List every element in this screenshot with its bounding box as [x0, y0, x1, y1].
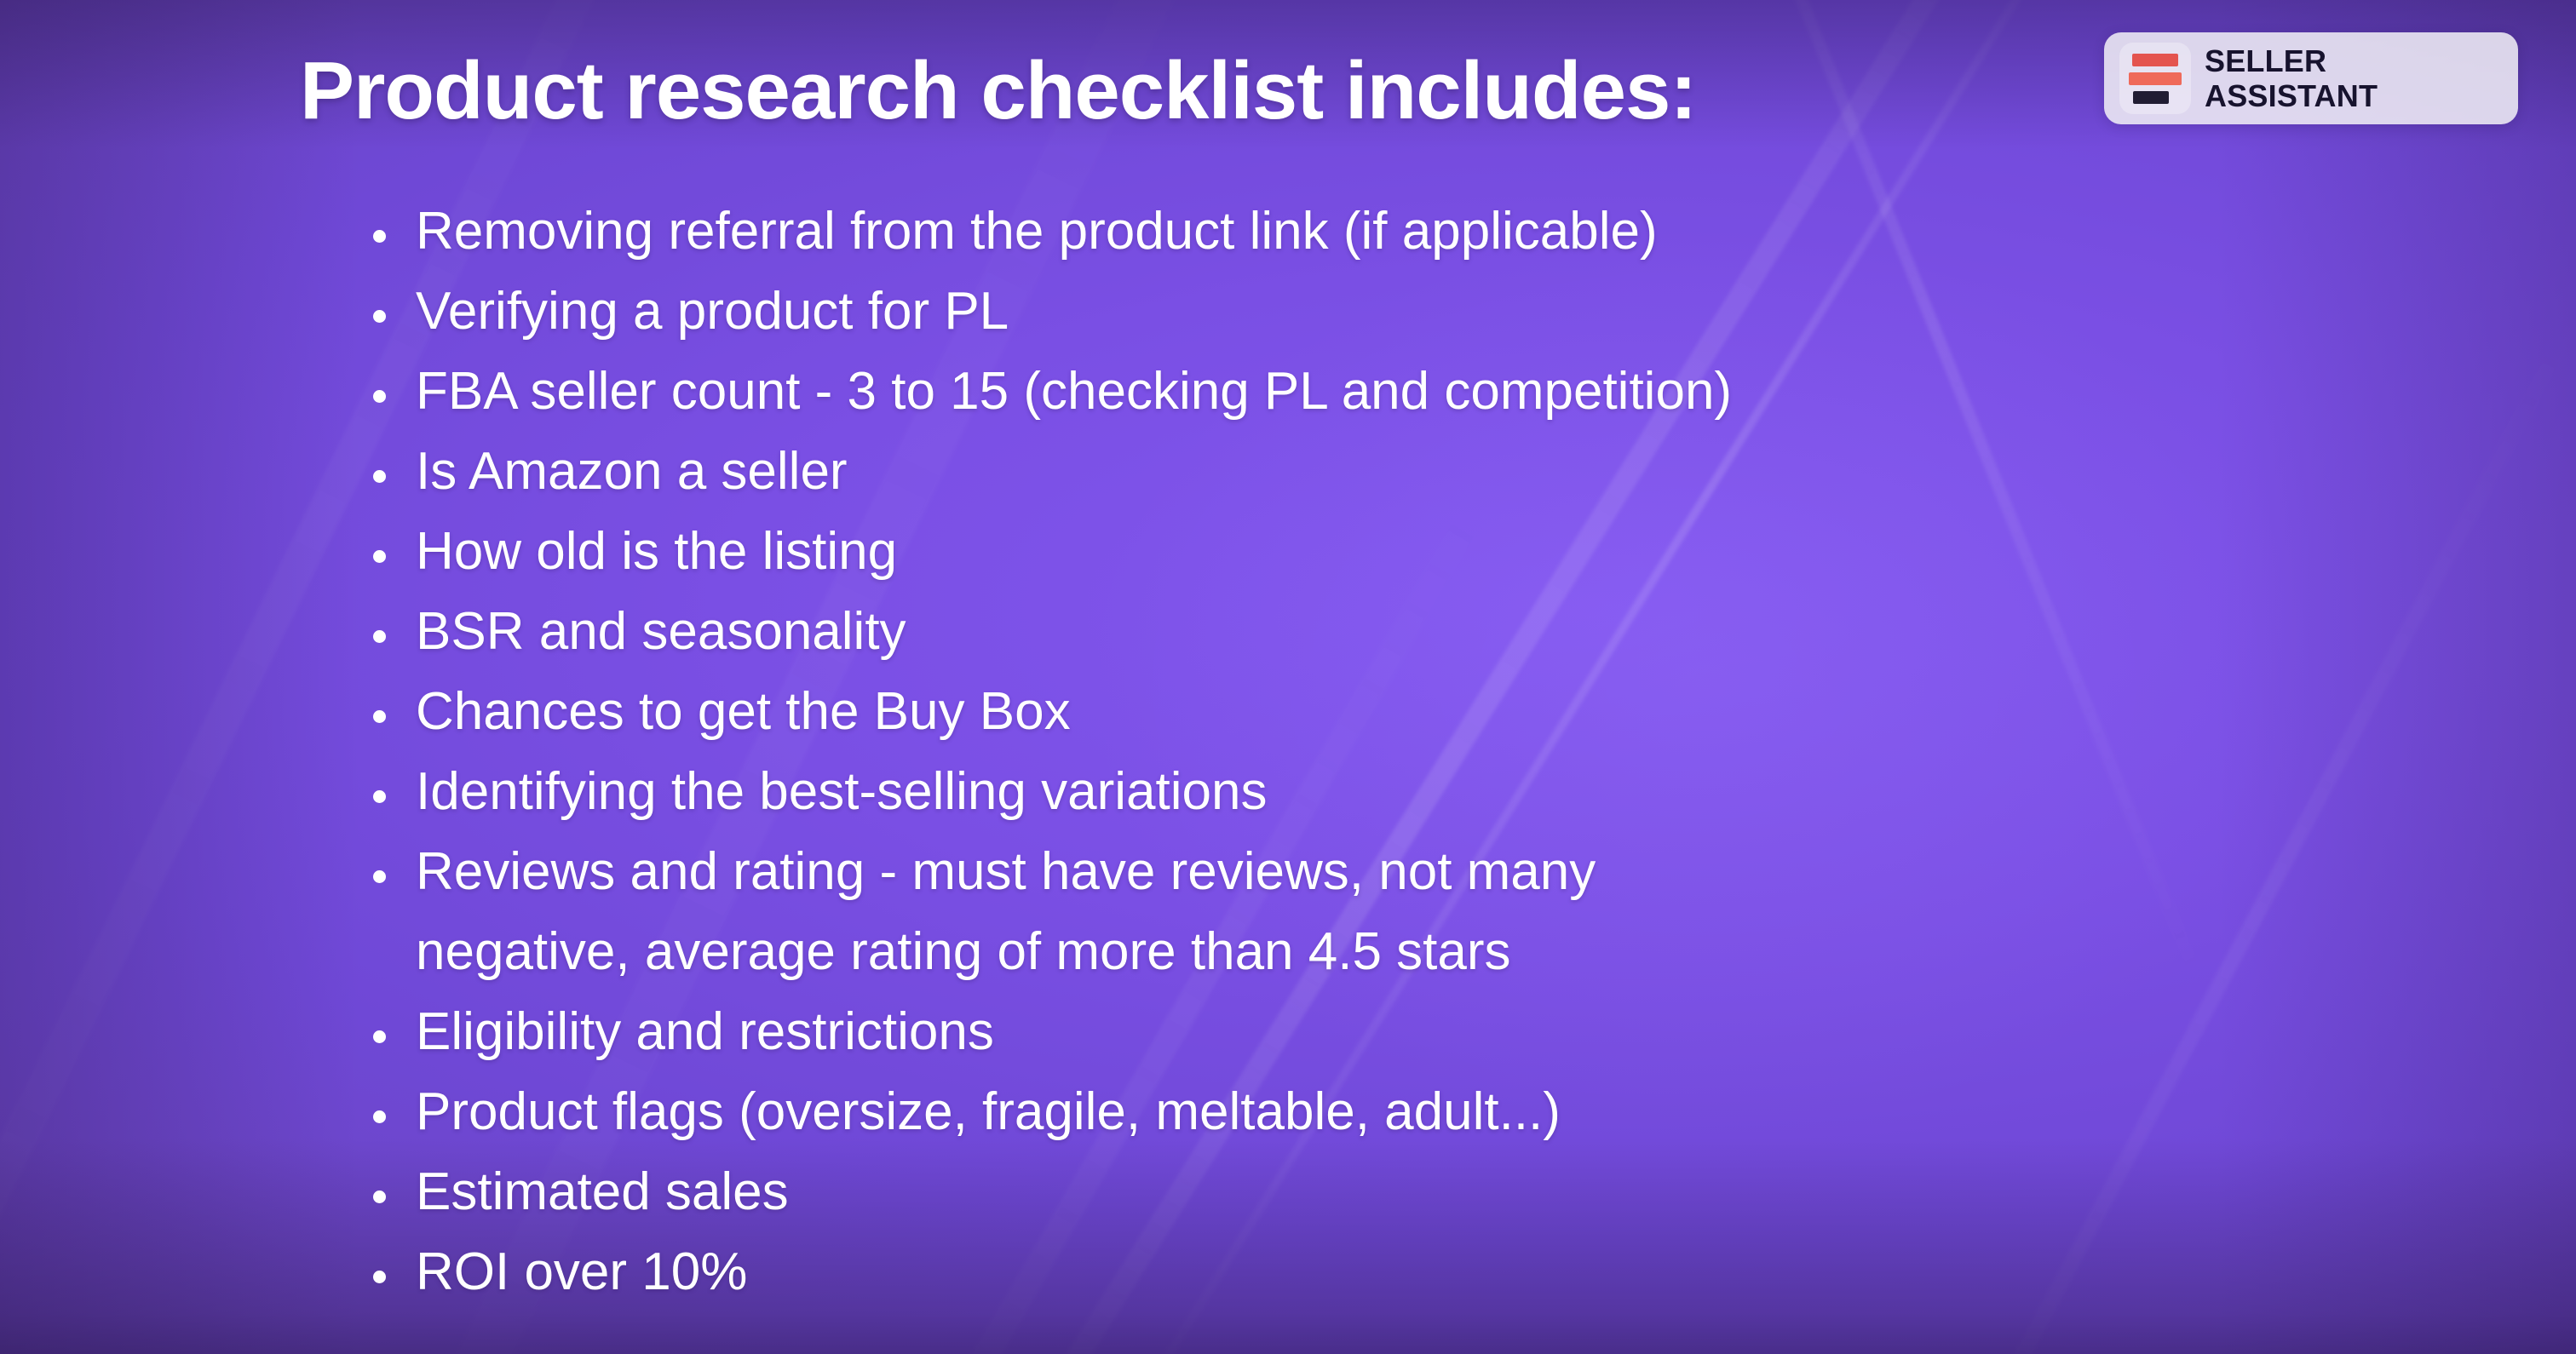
checklist-item: Identifying the best-selling variations — [366, 752, 2411, 832]
checklist-item: Estimated sales — [366, 1152, 2411, 1232]
checklist-item: Product flags (oversize, fragile, meltab… — [366, 1072, 2411, 1152]
checklist-item: Is Amazon a seller — [366, 432, 2411, 512]
logo-bar-bottom — [2133, 91, 2169, 104]
checklist-item: FBA seller count - 3 to 15 (checking PL … — [366, 352, 2411, 432]
three-bars-logo-icon — [2119, 43, 2191, 114]
slide-content: Product research checklist includes: Rem… — [0, 0, 2576, 1354]
badge-line-1: SELLER — [2205, 43, 2378, 78]
checklist-item: Removing referral from the product link … — [366, 192, 2411, 272]
slide-title: Product research checklist includes: — [300, 44, 1696, 138]
logo-bar-middle — [2129, 72, 2182, 85]
seller-assistant-badge: SELLER ASSISTANT — [2104, 32, 2518, 124]
checklist-item: ROI over 10% — [366, 1232, 2411, 1312]
checklist-item: Reviews and rating - must have reviews, … — [366, 832, 2411, 992]
checklist-item: Eligibility and restrictions — [366, 992, 2411, 1072]
badge-wordmark: SELLER ASSISTANT — [2205, 43, 2378, 113]
presentation-slide: Product research checklist includes: Rem… — [0, 0, 2576, 1354]
checklist-item: Verifying a product for PL — [366, 272, 2411, 352]
checklist-item: Chances to get the Buy Box — [366, 672, 2411, 752]
checklist-item: How old is the listing — [366, 512, 2411, 592]
checklist: Removing referral from the product link … — [366, 192, 2411, 1312]
logo-bar-top — [2132, 54, 2178, 66]
checklist-item: BSR and seasonality — [366, 592, 2411, 672]
badge-line-2: ASSISTANT — [2205, 78, 2378, 113]
